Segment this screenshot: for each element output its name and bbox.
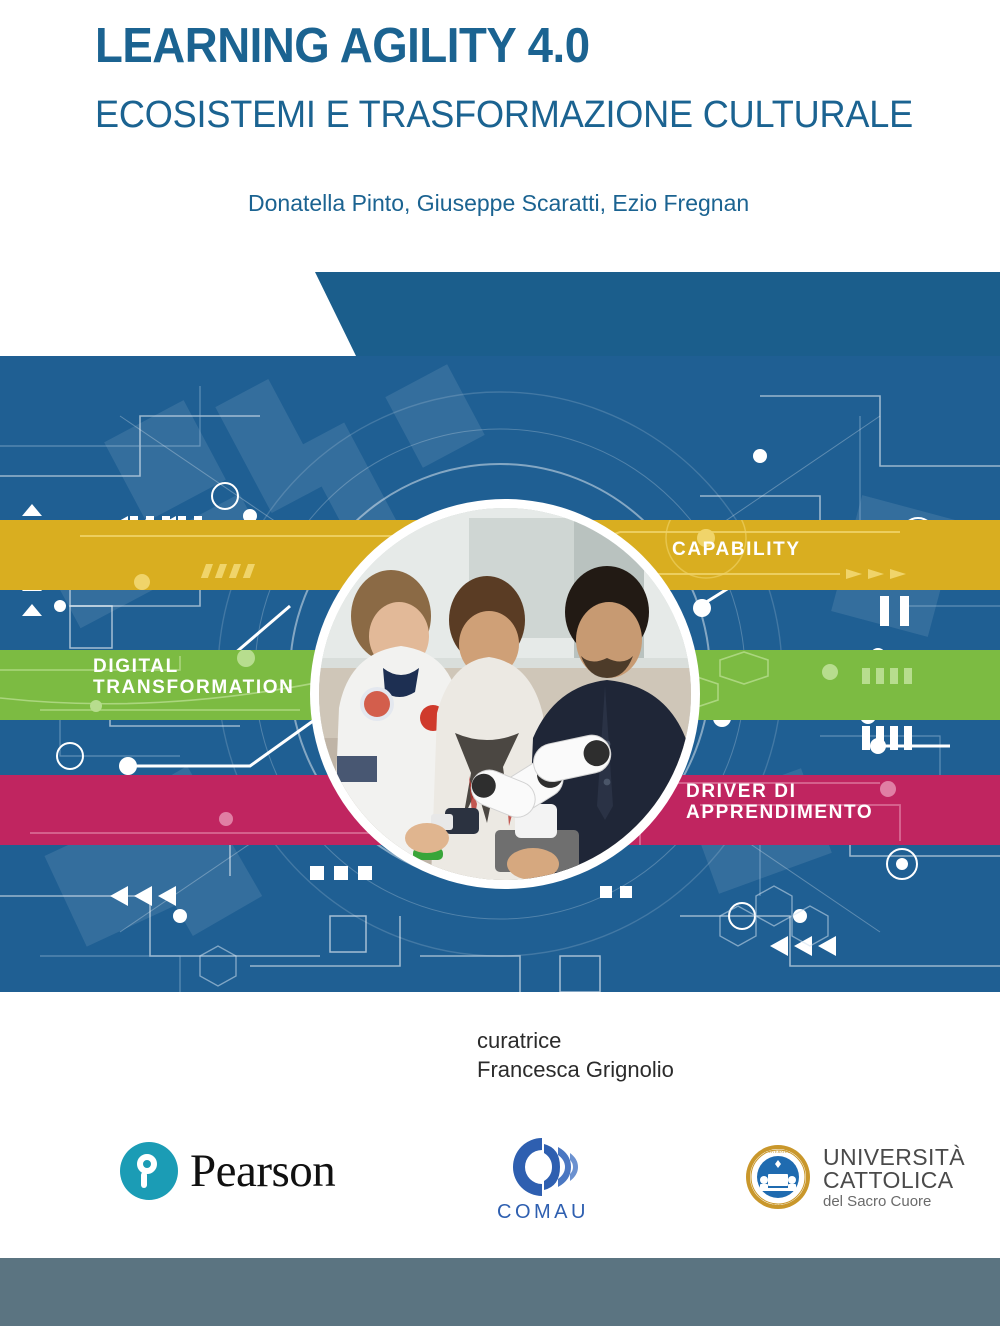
page-subtitle: ECOSISTEMI E TRASFORMAZIONE CULTURALE — [95, 94, 913, 137]
students-robot-photo-icon — [319, 508, 691, 880]
pearson-logo: Pearson — [120, 1142, 335, 1200]
curator-block: curatrice Francesca Grignolio — [477, 1026, 674, 1085]
cover-photo — [319, 508, 691, 880]
band-label-capability: CAPABILITY — [672, 539, 801, 560]
band-label-digital-transformation: DIGITAL TRANSFORMATION — [93, 656, 294, 699]
driver-line-1: DRIVER DI — [686, 781, 796, 802]
footer-bar — [0, 1258, 1000, 1326]
top-banner-shape — [0, 272, 1000, 358]
unicatt-logo: UNIVERSITAS MEDIOLANI UNIVERSITÀ CATTOLI… — [745, 1144, 965, 1210]
authors-line: Donatella Pinto, Giuseppe Scaratti, Ezio… — [248, 190, 749, 217]
page-title: LEARNING AGILITY 4.0 — [95, 18, 590, 74]
pearson-mark-icon — [120, 1142, 178, 1200]
cover-artwork: CAPABILITY — [0, 356, 1000, 992]
band-label-driver-apprendimento: DRIVER DI APPRENDIMENTO — [686, 781, 873, 824]
book-cover: LEARNING AGILITY 4.0 ECOSISTEMI E TRASFO… — [0, 0, 1000, 1326]
digital-line-2: TRANSFORMATION — [93, 677, 294, 698]
comau-logo: COMAU — [497, 1136, 589, 1224]
unicatt-line-3: del Sacro Cuore — [823, 1194, 965, 1209]
cover-photo-ring — [310, 499, 700, 889]
svg-text:UNIVERSITAS: UNIVERSITAS — [764, 1149, 792, 1154]
unicatt-line-2: CATTOLICA — [823, 1169, 965, 1192]
title-block: LEARNING AGILITY 4.0 ECOSISTEMI E TRASFO… — [0, 0, 1000, 274]
publisher-logos: Pearson COMAU — [0, 1128, 1000, 1248]
digital-line-1: DIGITAL — [93, 656, 179, 677]
svg-text:MEDIOLANI: MEDIOLANI — [766, 1203, 790, 1208]
unicatt-wordmark: UNIVERSITÀ CATTOLICA del Sacro Cuore — [823, 1146, 965, 1209]
pearson-wordmark: Pearson — [190, 1144, 335, 1198]
curator-name: Francesca Grignolio — [477, 1055, 674, 1084]
unicatt-seal-icon: UNIVERSITAS MEDIOLANI — [745, 1144, 811, 1210]
comau-mark-icon — [506, 1136, 580, 1198]
driver-line-2: APPRENDIMENTO — [686, 802, 873, 823]
curator-role: curatrice — [477, 1026, 674, 1055]
comau-wordmark: COMAU — [497, 1201, 589, 1224]
unicatt-line-1: UNIVERSITÀ — [823, 1146, 965, 1169]
